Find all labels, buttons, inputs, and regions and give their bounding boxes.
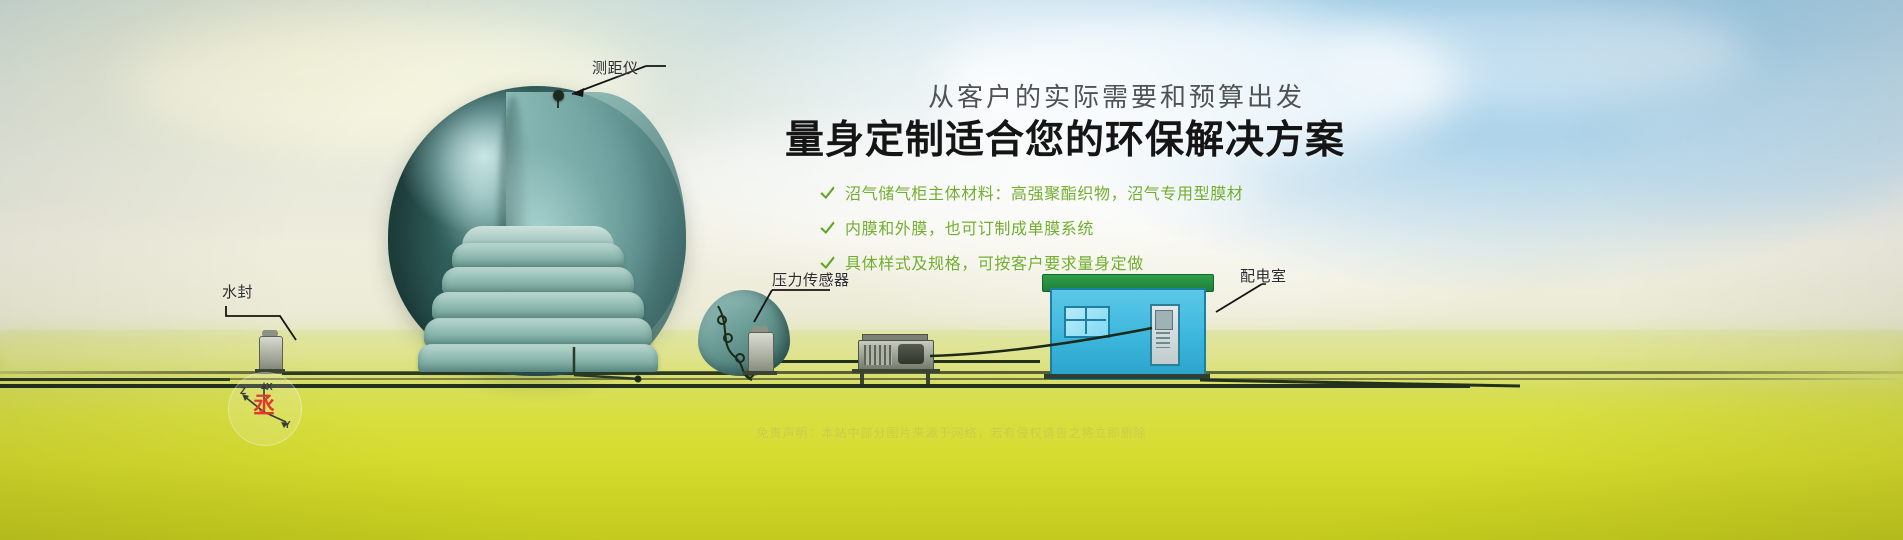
list-item: 内膜和外膜，也可订制成单膜系统 <box>819 215 1305 239</box>
list-item: 具体样式及规格，可按客户要求量身定做 <box>819 250 1305 274</box>
power-cable <box>930 320 1170 380</box>
outgoing-pipe <box>1200 368 1540 394</box>
power-room-leader <box>1190 280 1266 320</box>
hero-kicker: 从客户的实际需要和预算出发 <box>785 82 1305 113</box>
ground-cable <box>560 345 650 390</box>
check-icon <box>819 254 836 271</box>
membrane-fold <box>424 318 652 346</box>
axis-label-x: X <box>266 382 273 393</box>
hero-headline: 量身定制适合您的环保解决方案 <box>785 119 1305 164</box>
membrane-fold <box>442 267 634 294</box>
feature-list: 沼气储气柜主体材料：高强聚酯织物，沼气专用型膜材 内膜和外膜，也可订制成单膜系统… <box>785 180 1305 274</box>
label-water-seal: 水封 <box>222 281 253 302</box>
pressure-sensor-base <box>743 371 777 375</box>
hero-banner: 测距仪 水封 压力传感器 配电室 Z X Y 丞 从客户的实际需要和预算出发 量… <box>0 0 1903 540</box>
check-icon <box>819 219 836 236</box>
membrane-fold <box>452 243 624 269</box>
pump-grill <box>864 345 892 365</box>
pump-motor <box>898 344 924 364</box>
pump-leg <box>860 370 864 384</box>
list-item: 沼气储气柜主体材料：高强聚酯织物，沼气专用型膜材 <box>819 180 1305 204</box>
pipe-segment <box>0 378 230 381</box>
hero-copy: 从客户的实际需要和预算出发 量身定制适合您的环保解决方案 沼气储气柜主体材料：高… <box>785 82 1305 285</box>
pressure-sensor-leader <box>720 288 830 346</box>
label-rangefinder: 测距仪 <box>592 57 639 78</box>
brand-mark-icon: 丞 <box>252 393 276 419</box>
list-item-label: 具体样式及规格，可按客户要求量身定做 <box>845 250 1144 274</box>
membrane-fold <box>432 292 644 320</box>
disclaimer-text: 免责声明：本站中部分图片来源于网络，若有侵权请告之将立即删除 <box>0 424 1903 441</box>
list-item-label: 沼气储气柜主体材料：高强聚酯织物，沼气专用型膜材 <box>845 180 1243 204</box>
axis-label-z: Z <box>240 386 246 397</box>
water-seal-leader <box>222 300 308 352</box>
list-item-label: 内膜和外膜，也可订制成单膜系统 <box>845 215 1094 239</box>
check-icon <box>819 184 836 201</box>
